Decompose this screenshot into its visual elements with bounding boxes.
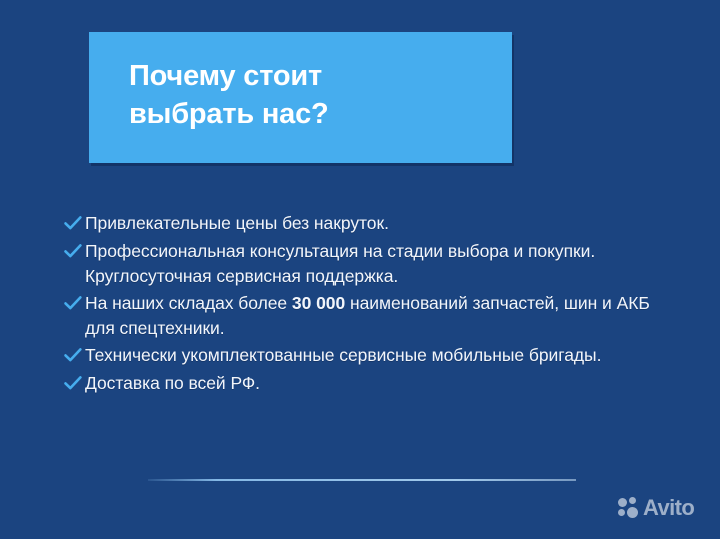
bullet-warehouse: На наших складах более 30 000 наименован… (85, 291, 663, 342)
check-icon (63, 373, 85, 398)
bullet-consultation: Профессиональная консультация на стадии … (85, 239, 663, 290)
check-icon (63, 345, 85, 370)
benefits-list: Привлекательные цены без накруток.Профес… (63, 211, 663, 399)
title-box: Почему стоит выбрать нас? (89, 32, 512, 163)
list-item: Технически укомплектованные сервисные мо… (63, 343, 663, 370)
list-item: Профессиональная консультация на стадии … (63, 239, 663, 290)
highlighted-number: 30 000 (292, 293, 345, 313)
list-item: Привлекательные цены без накруток. (63, 211, 663, 238)
slide-canvas: Почему стоит выбрать нас? Привлекательны… (0, 0, 720, 539)
list-item: Доставка по всей РФ. (63, 371, 663, 398)
list-item: На наших складах более 30 000 наименован… (63, 291, 663, 342)
bullet-delivery: Доставка по всей РФ. (85, 371, 663, 396)
bullet-mobile-brigades: Технически укомплектованные сервисные мо… (85, 343, 663, 368)
check-icon (63, 241, 85, 266)
avito-dots-logo (618, 497, 640, 519)
check-icon (63, 213, 85, 238)
avito-wordmark: Avito (643, 497, 694, 519)
bullet-prices: Привлекательные цены без накруток. (85, 211, 663, 236)
divider (148, 479, 576, 481)
check-icon (63, 293, 85, 318)
avito-watermark: Avito (618, 497, 694, 519)
page-title: Почему стоит выбрать нас? (129, 57, 498, 134)
